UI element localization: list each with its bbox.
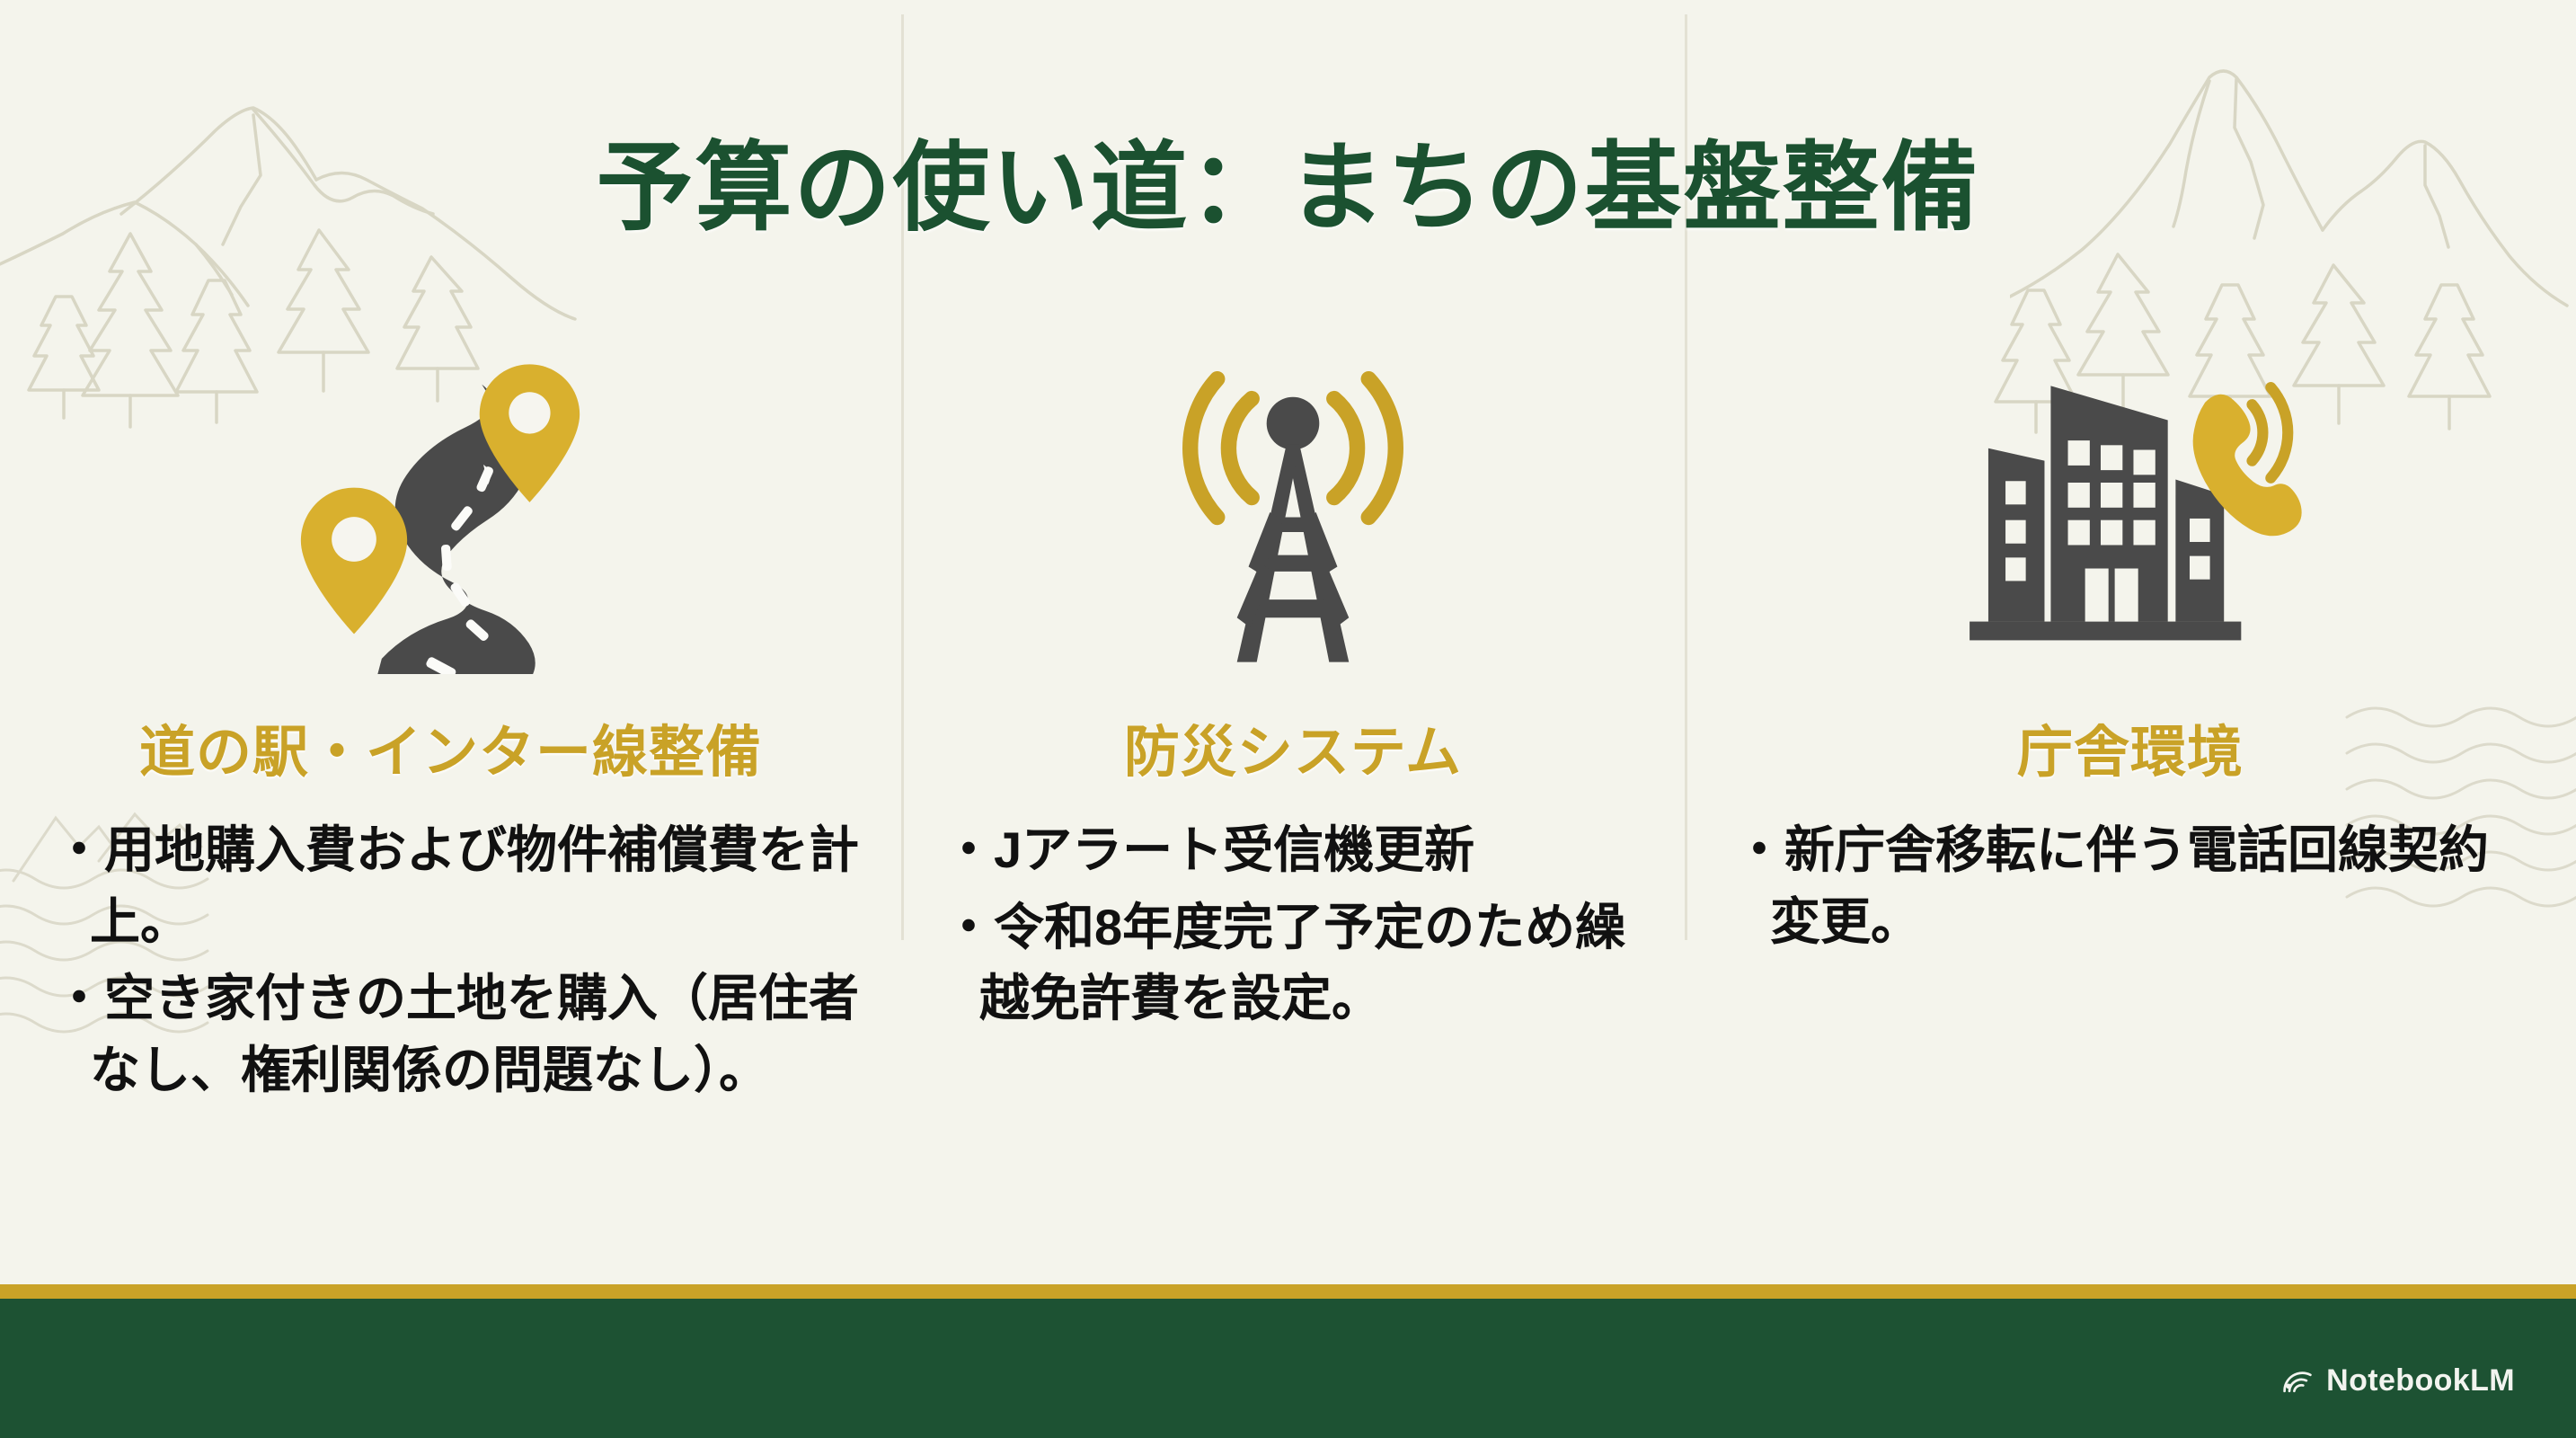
gold-accent-bar [0,1284,2576,1299]
slide-title: 予算の使い道：まちの基盤整備 [0,135,2576,242]
column-title: 庁舎環境 [2017,706,2244,787]
bullet-list: Jアラート受信機更新 令和8年度完了予定のため繰越免許費を設定。 [931,814,1655,1040]
presentation-slide: 予算の使い道：まちの基盤整備 [0,0,2576,1438]
column-road-station: 道の駅・インター線整備 用地購入費および物件補償費を計上。 空き家付きの土地を購… [0,324,901,1267]
watermark-label: NotebookLM [2326,1363,2515,1398]
list-item: 用地購入費および物件補償費を計上。 [54,814,865,957]
notebooklm-watermark: NotebookLM [2281,1363,2515,1398]
list-item: Jアラート受信機更新 [943,814,1655,886]
column-title: 道の駅・インター線整備 [139,706,762,787]
columns-container: 道の駅・インター線整備 用地購入費および物件補償費を計上。 空き家付きの土地を購… [0,324,2576,1267]
footer-bar: NotebookLM [0,1299,2576,1438]
bullet-list: 新庁舎移転に伴う電話回線契約変更。 [1725,814,2536,963]
list-item: 新庁舎移転に伴う電話回線契約変更。 [1734,814,2536,957]
column-title: 防災システム [1124,706,1462,787]
broadcast-tower-icon [1145,324,1441,701]
notebooklm-spiral-icon [2281,1365,2314,1398]
road-with-map-pins-icon [289,324,613,701]
column-disaster-system: 防災システム Jアラート受信機更新 令和8年度完了予定のため繰越免許費を設定。 [901,324,1685,1267]
list-item: 令和8年度完了予定のため繰越免許費を設定。 [943,892,1655,1034]
column-office-environment: 庁舎環境 新庁舎移転に伴う電話回線契約変更。 [1685,324,2576,1267]
bullet-list: 用地購入費および物件補償費を計上。 空き家付きの土地を購入（居住者なし、権利関係… [27,814,874,1111]
list-item: 空き家付きの土地を購入（居住者なし、権利関係の問題なし）。 [54,963,865,1105]
office-building-phone-icon [1951,324,2310,701]
